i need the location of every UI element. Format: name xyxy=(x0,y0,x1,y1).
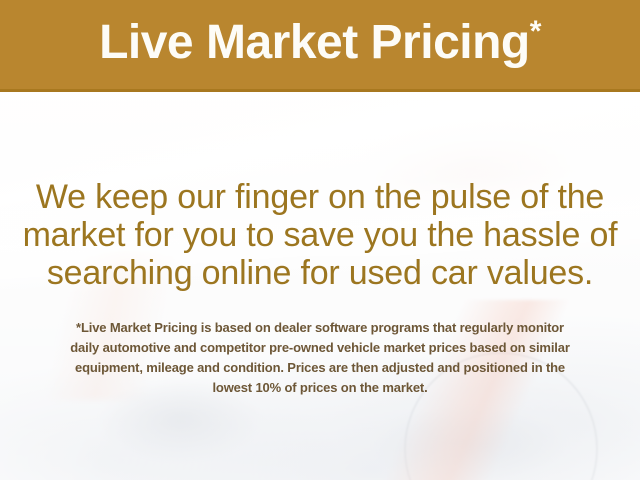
disclaimer-line-3: equipment, mileage and condition. Prices… xyxy=(24,358,616,378)
headline-line-2: market for you to save you the hassle of xyxy=(18,216,622,254)
page-title: Live Market Pricing* xyxy=(99,19,541,71)
disclaimer-text: *Live Market Pricing is based on dealer … xyxy=(0,318,640,398)
page-title-asterisk: * xyxy=(530,15,541,48)
disclaimer-line-2: daily automotive and competitor pre-owne… xyxy=(24,338,616,358)
disclaimer-line-1: *Live Market Pricing is based on dealer … xyxy=(24,318,616,338)
headline-line-1: We keep our finger on the pulse of the xyxy=(18,178,622,216)
page-title-text: Live Market Pricing xyxy=(99,16,530,69)
headline-text: We keep our finger on the pulse of the m… xyxy=(0,178,640,292)
disclaimer-line-4: lowest 10% of prices on the market. xyxy=(24,378,616,398)
live-market-pricing-slide: Live Market Pricing* We keep our finger … xyxy=(0,0,640,480)
headline-line-3: searching online for used car values. xyxy=(18,254,622,292)
header-band: Live Market Pricing* xyxy=(0,0,640,92)
